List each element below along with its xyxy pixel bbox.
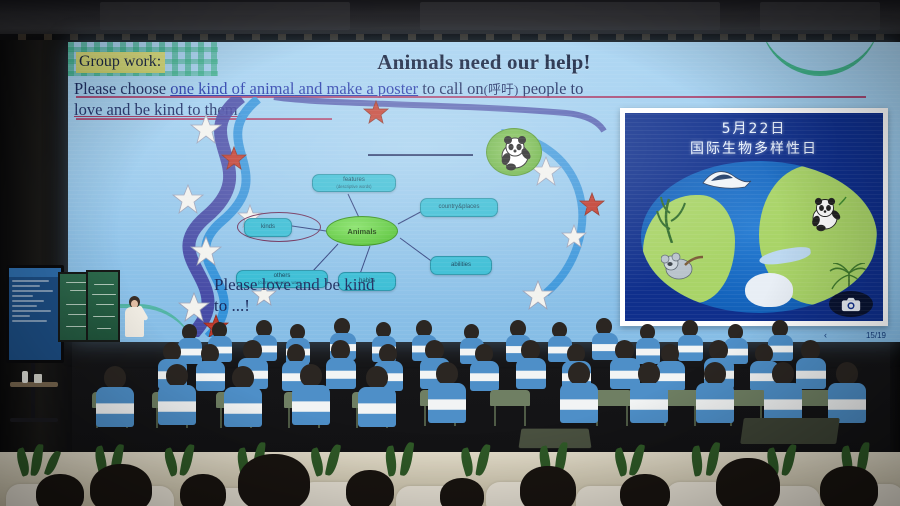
koala-icon	[661, 251, 703, 281]
audience-head	[90, 464, 152, 506]
instruction-chinese-gloss: (呼吁)	[484, 82, 519, 97]
poster-panda-icon	[803, 195, 847, 233]
node-label: kinds	[261, 224, 275, 230]
seaweed-icon	[655, 193, 689, 243]
ceiling-panel	[420, 2, 720, 30]
slide-closing-text: Please love and be kind to ...!	[214, 274, 375, 316]
poster-title: 国际生物多样性日	[625, 138, 883, 158]
ceiling-panel	[760, 2, 880, 30]
audience-head	[238, 454, 310, 506]
node-sublabel: (descriptive words)	[317, 184, 391, 189]
audience-head	[820, 466, 878, 506]
chair	[592, 390, 632, 406]
biodiversity-poster: 5月22日 国际生物多样性日	[620, 108, 888, 326]
camera-icon	[841, 297, 861, 312]
front-audience	[0, 452, 900, 506]
answer-blank-line	[368, 154, 473, 156]
monitor-titlebar	[9, 268, 61, 277]
audience-head	[716, 458, 780, 506]
instruction-underline-1	[76, 96, 866, 98]
mindmap-center-node: Animals	[326, 216, 398, 246]
instruction-underline-2	[76, 118, 332, 120]
audience-head	[520, 466, 576, 506]
bird-icon	[701, 167, 753, 189]
mindmap-node-kinds-wrap: kinds	[244, 218, 292, 237]
mindmap-node-features: features (descriptive words)	[312, 174, 396, 192]
audience-head	[346, 470, 394, 506]
mindmap-node-abilities: abilities	[430, 256, 492, 275]
mindmap-node-country-places: country&places	[420, 198, 498, 217]
audience-head	[180, 474, 226, 506]
chair	[490, 390, 530, 406]
poster-date: 5月22日	[625, 118, 883, 138]
audience-head	[620, 474, 670, 506]
ceiling-panel	[100, 2, 350, 30]
camera-button[interactable]	[829, 291, 873, 317]
node-label: country&places	[438, 204, 479, 210]
polar-bear-icon	[745, 273, 793, 307]
slide-title: Animals need our help!	[68, 50, 900, 75]
closing-line-1: Please love and be kind	[214, 274, 375, 295]
closing-line-2: to ...!	[214, 295, 375, 316]
mindmap-node-kinds: kinds	[244, 218, 292, 237]
node-label: abilities	[451, 262, 471, 268]
node-label: features	[343, 177, 365, 183]
earth-illustration	[641, 161, 877, 313]
auditorium-scene: Group work: Animals need our help! Pleas…	[0, 0, 900, 506]
projection-screen: Group work: Animals need our help! Pleas…	[68, 42, 900, 342]
slide-instruction-line2: love and be kind to them.	[74, 99, 242, 120]
audience-head	[440, 478, 484, 506]
center-label: Animals	[347, 227, 376, 236]
audience-head	[36, 474, 84, 506]
